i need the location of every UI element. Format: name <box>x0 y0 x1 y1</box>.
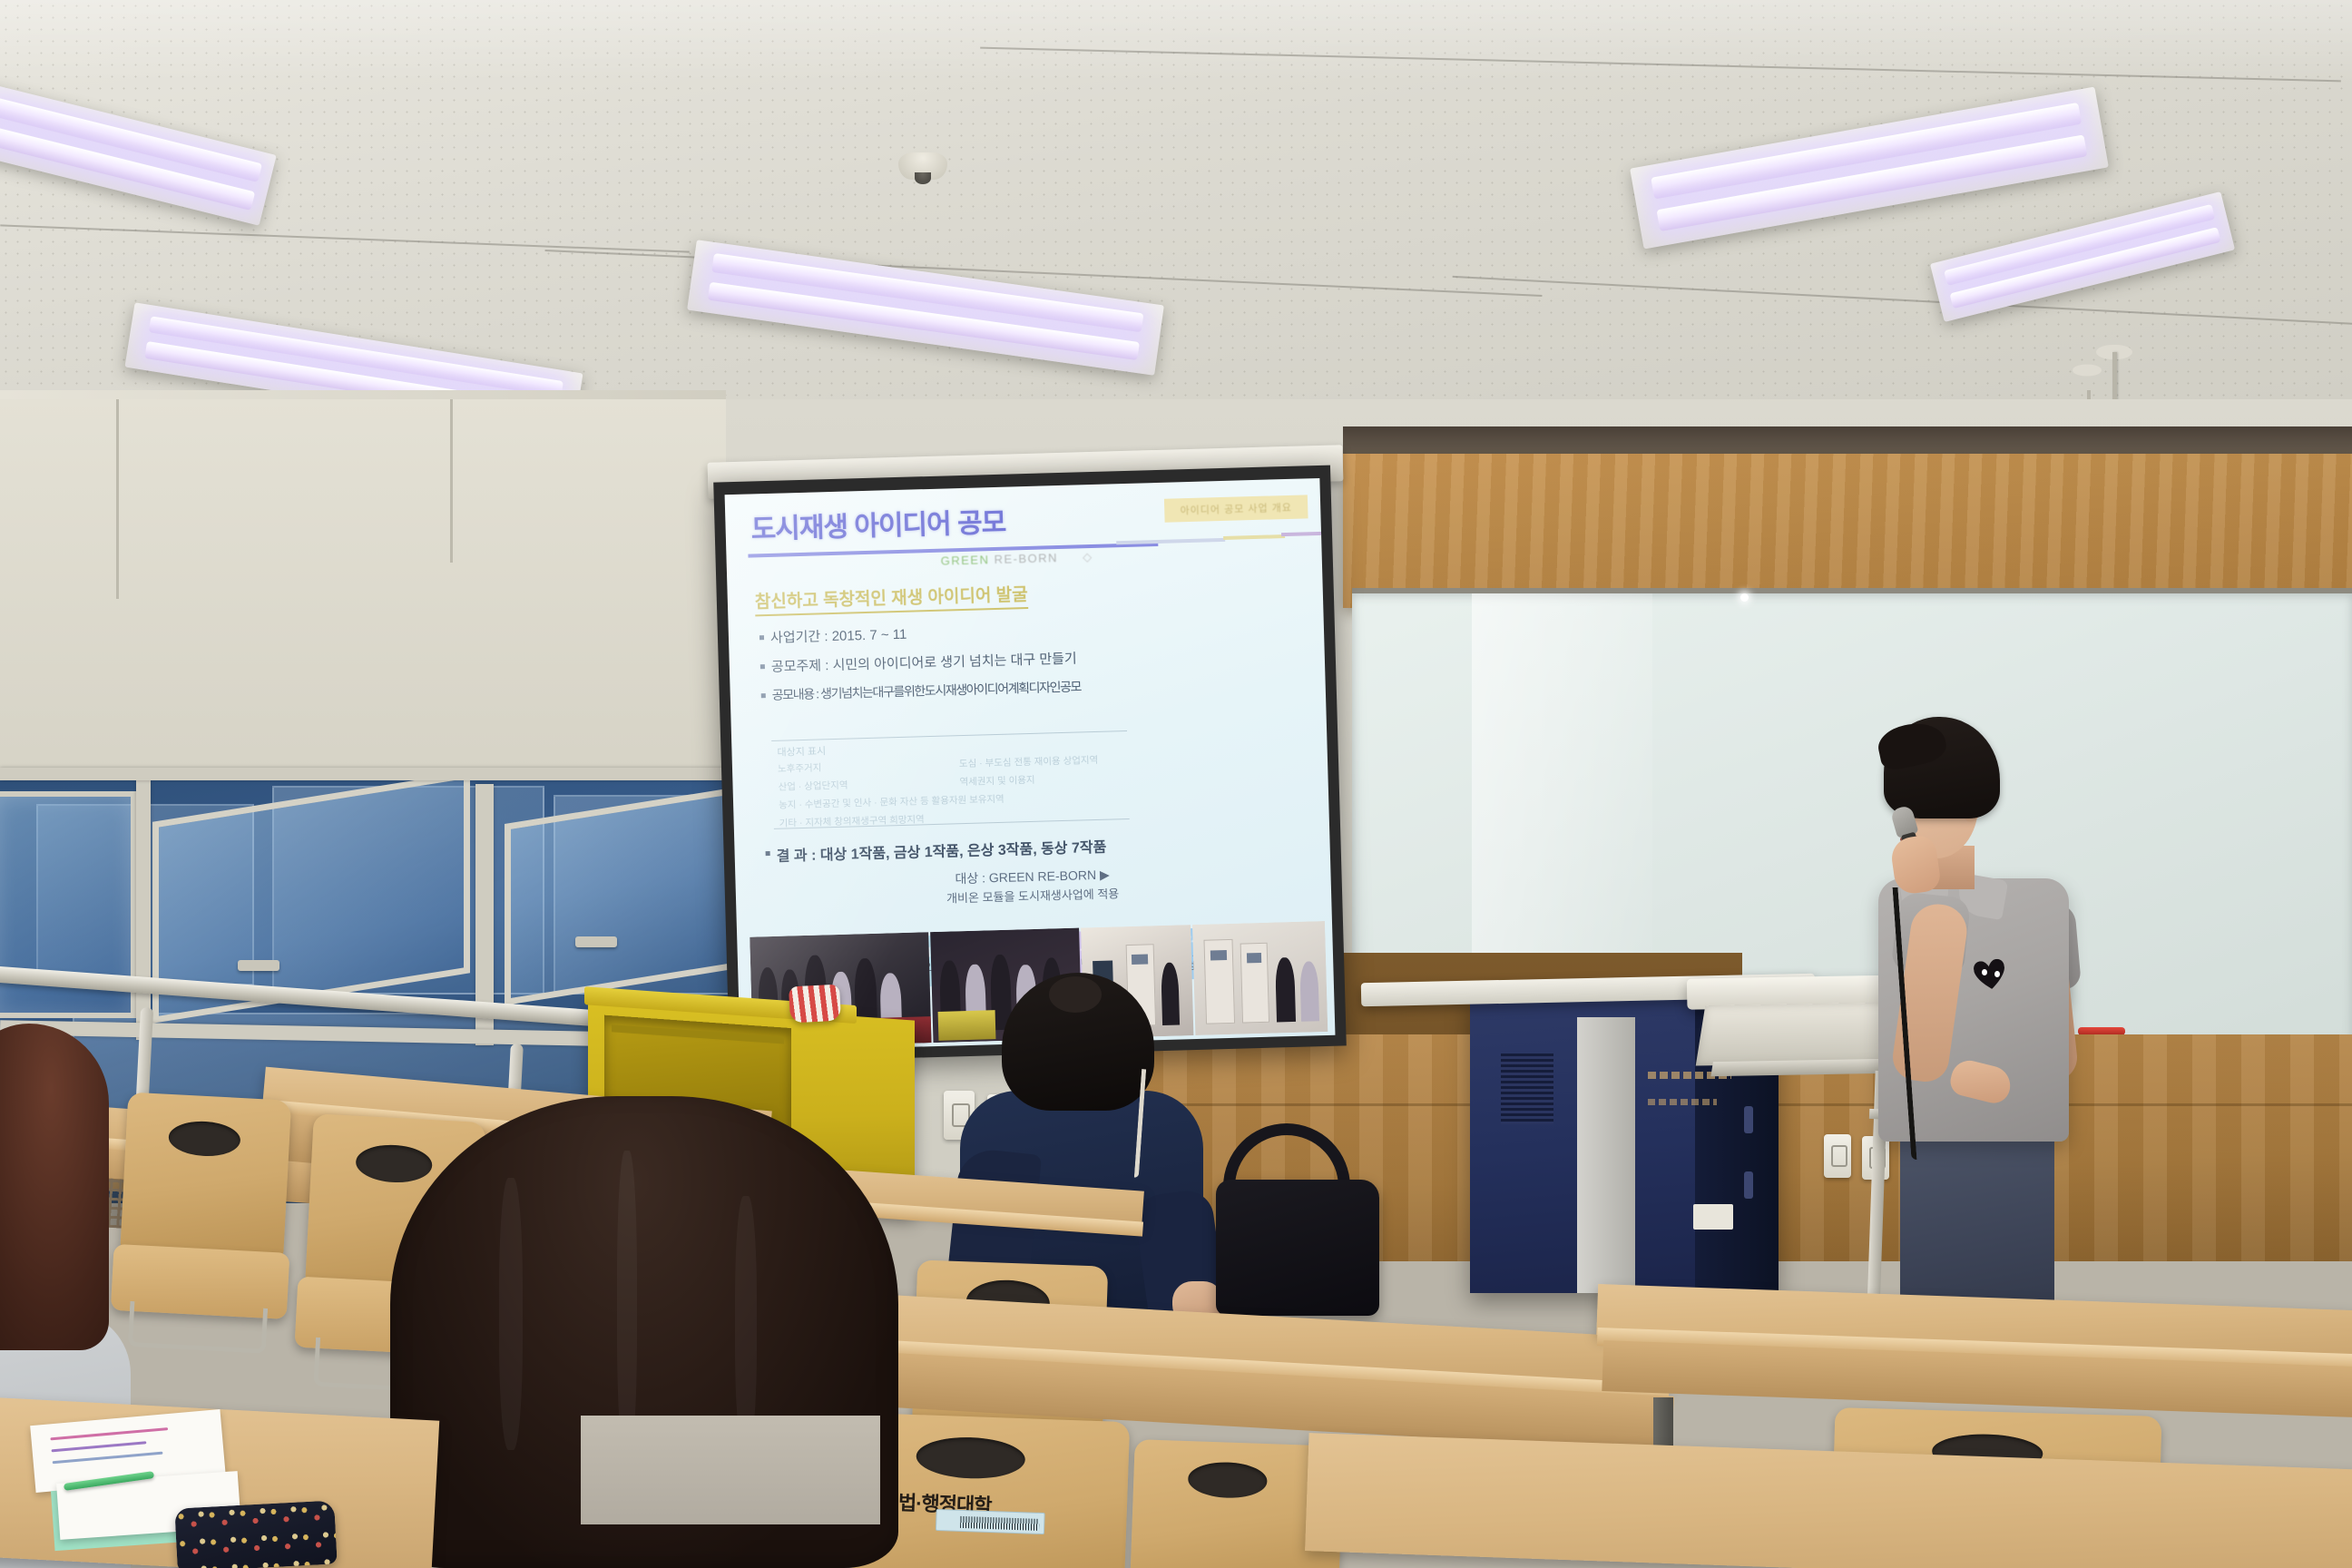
cabinet-sticker <box>1693 1204 1733 1230</box>
chair-frame <box>128 1301 268 1354</box>
slide-header-tab: 아이디어 공모 사업 개요 <box>1164 495 1308 522</box>
bullet-square-icon <box>761 693 766 698</box>
striped-pouch[interactable] <box>789 985 841 1024</box>
pencil-case[interactable] <box>174 1500 337 1568</box>
highlighted-line <box>53 1452 163 1465</box>
cabinet-grey-panel <box>1577 1017 1635 1293</box>
cabinet-vent <box>1501 1053 1553 1124</box>
window-handle[interactable] <box>238 960 279 971</box>
logo-green-text: GREEN <box>941 553 990 567</box>
bullet-square-icon <box>759 635 764 640</box>
slide-bullet: 공모주제 : 시민의 아이디어로 생기 넘치는 대구 만들기 <box>760 648 1081 676</box>
chair-handle-hole <box>1188 1461 1269 1498</box>
chair-asset-barcode <box>936 1508 1045 1534</box>
projector-mount-plate <box>2073 365 2102 377</box>
smoke-detector-icon <box>898 152 947 180</box>
awning-window-open[interactable] <box>505 788 733 1005</box>
floor <box>581 1416 880 1524</box>
highlighted-line <box>50 1427 168 1440</box>
target-item: 역세권지 및 이용지 <box>959 770 1099 792</box>
window-head-rail <box>0 768 737 780</box>
ceiling-highlight-band <box>0 0 2352 82</box>
bullet-text: 공모주제 : 시민의 아이디어로 생기 넘치는 대구 만들기 <box>771 649 1077 676</box>
tote-bag[interactable] <box>1216 1180 1379 1316</box>
slide-bullet-list: 사업기간 : 2015. 7 ~ 11 공모주제 : 시민의 아이디어로 생기 … <box>759 619 1082 714</box>
slide-title-rule-accent <box>1281 532 1325 536</box>
projector-mount-rod <box>2112 352 2117 407</box>
slide-bullet: 사업기간 : 2015. 7 ~ 11 <box>759 619 1080 647</box>
window-roller-blind[interactable] <box>0 399 726 780</box>
bullet-square-icon <box>760 664 765 669</box>
bullet-text: 공모내용 : 생기넘치는대구를위한도시재생아이디어계획디자인공모 <box>771 677 1081 703</box>
cabinet-handle[interactable] <box>1744 1171 1753 1199</box>
heart-logo-eye-icon <box>1994 971 2000 977</box>
whiteboard-light-reflection <box>1740 593 1749 602</box>
blind-pull-cord[interactable] <box>116 399 119 599</box>
window-mullion <box>136 780 151 1040</box>
window-handle[interactable] <box>575 936 617 947</box>
slide-subtitle: 참신하고 독창적인 재생 아이디어 발굴 <box>754 581 1028 616</box>
green-reborn-logo: GREEN RE-BORN ◇ <box>941 550 1093 569</box>
presenter <box>1851 717 2087 1352</box>
chair[interactable] <box>115 1092 291 1354</box>
chair-handle-hole <box>168 1120 241 1158</box>
logo-mark-icon: ◇ <box>1083 550 1093 563</box>
bullet-square-icon <box>766 851 770 856</box>
target-box-right-column: 도심 · 부도심 전통 재이용 상업지역 역세권지 및 이용지 <box>959 752 1099 792</box>
chair-handle-hole <box>916 1436 1026 1481</box>
slide-award-note: 대상 : GREEN RE-BORN ▶ 개비온 모듈을 도시재생사업에 적용 <box>946 865 1119 907</box>
highlighted-line <box>52 1441 147 1452</box>
award-line-2: 개비온 모듈을 도시재생사업에 적용 <box>946 885 1120 907</box>
slide-title-rule-accent <box>1116 538 1225 544</box>
power-outlet[interactable] <box>1824 1134 1851 1178</box>
slide-target-area-box: 대상지 표시 노후주거지 산업 · 상업단지역 농지 · 수변공간 및 인사 ·… <box>771 730 1130 829</box>
slide-surface: 아이디어 공모 사업 개요 도시재생 아이디어 공모 GREEN RE-BORN… <box>725 478 1336 1052</box>
slide-result-line: 결 과 : 대상 1작품, 금상 1작품, 은상 3작품, 동상 7작품 <box>765 835 1106 866</box>
cabinet-label <box>1648 1099 1717 1105</box>
student-hair-tuft <box>1049 976 1102 1013</box>
desk-surface <box>1305 1433 2352 1568</box>
bullet-text: 사업기간 : 2015. 7 ~ 11 <box>770 624 907 647</box>
slide-tab-label: 아이디어 공모 사업 개요 <box>1164 495 1308 522</box>
wood-valance <box>1343 454 2352 608</box>
student-hair <box>0 1024 109 1350</box>
logo-reborn-text: RE-BORN <box>994 551 1058 566</box>
classroom-presentation-scene: 아이디어 공모 사업 개요 도시재생 아이디어 공모 GREEN RE-BORN… <box>0 0 2352 1568</box>
slide-title: 도시재생 아이디어 공모 <box>750 500 1006 547</box>
slide-bullet: 공모내용 : 생기넘치는대구를위한도시재생아이디어계획디자인공모 <box>760 677 1081 704</box>
chair-back <box>120 1092 291 1258</box>
heart-logo-eye-icon <box>1982 969 1987 975</box>
slide-title-rule-accent <box>1223 534 1285 540</box>
cabinet-handle[interactable] <box>1744 1106 1753 1133</box>
blind-pull-cord[interactable] <box>450 399 453 563</box>
target-box-caption: 대상지 표시 <box>777 743 826 759</box>
result-text: 결 과 : 대상 1작품, 금상 1작품, 은상 3작품, 동상 7작품 <box>776 835 1106 866</box>
target-item: 도심 · 부도심 전통 재이용 상업지역 <box>959 752 1099 774</box>
